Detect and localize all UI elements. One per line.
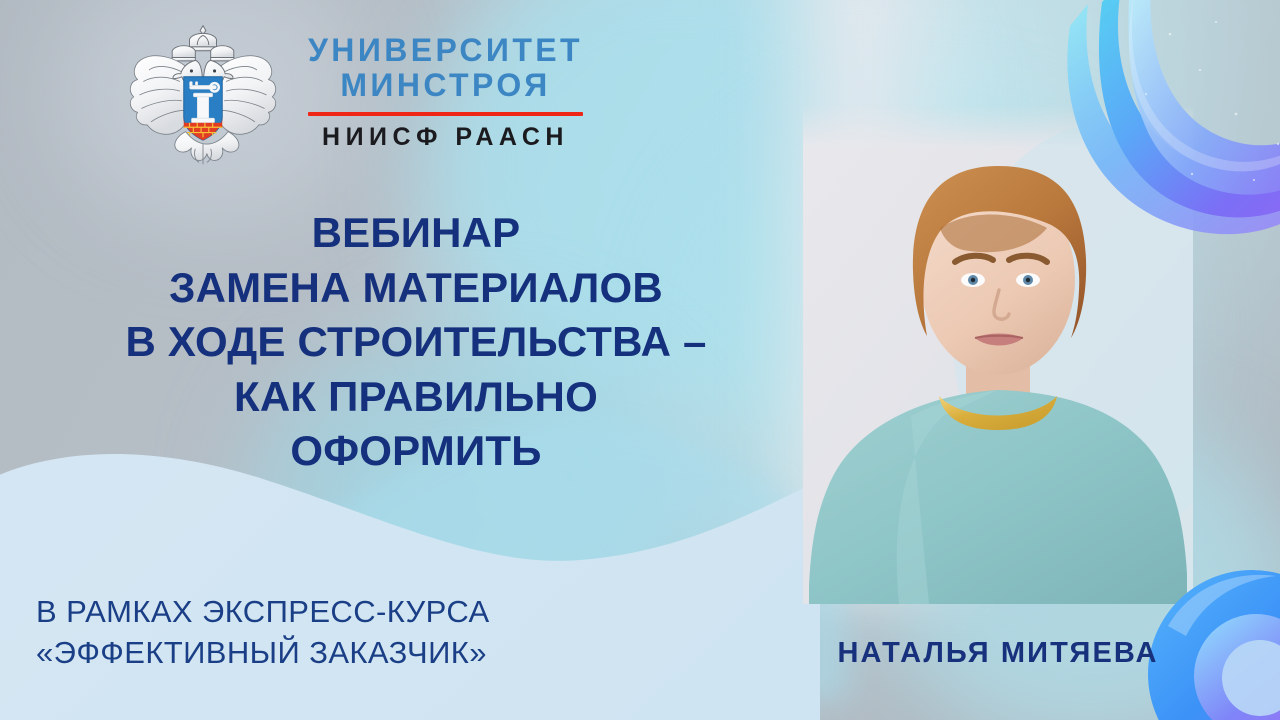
speaker-name: НАТАЛЬЯ МИТЯЕВА — [803, 637, 1193, 670]
headline-line-4: КАК ПРАВИЛЬНО — [22, 370, 810, 425]
page-title: ВЕБИНАР ЗАМЕНА МАТЕРИАЛОВ В ХОДЕ СТРОИТЕ… — [22, 206, 810, 479]
logo-divider-rule — [308, 112, 583, 116]
logo-line-university: УНИВЕРСИТЕТ — [308, 34, 583, 68]
headline-line-3: В ХОДЕ СТРОИТЕЛЬСТВА – — [22, 315, 810, 370]
logo-text-block: УНИВЕРСИТЕТ МИНСТРОЯ НИИСФ РААСН — [308, 18, 583, 150]
swirl-ribbon-decoration — [1050, 0, 1280, 264]
logo-line-minstroy: МИНСТРОЯ — [340, 68, 550, 104]
course-line-1: В РАМКАХ ЭКСПРЕСС-КУРСА — [36, 591, 716, 632]
headline-line-5: ОФОРМИТЬ — [22, 424, 810, 479]
logo-line-niisf-raasn: НИИСФ РААСН — [322, 125, 569, 150]
headline-line-2: ЗАМЕНА МАТЕРИАЛОВ — [22, 261, 810, 316]
course-subtitle: В РАМКАХ ЭКСПРЕСС-КУРСА «ЭФФЕКТИВНЫЙ ЗАК… — [36, 591, 716, 673]
headline-line-1: ВЕБИНАР — [22, 206, 810, 261]
logo-lockup: УНИВЕРСИТЕТ МИНСТРОЯ НИИСФ РААСН — [126, 18, 583, 172]
slide-canvas: УНИВЕРСИТЕТ МИНСТРОЯ НИИСФ РААСН ВЕБИНАР… — [0, 0, 1280, 720]
course-line-2: «ЭФФЕКТИВНЫЙ ЗАКАЗЧИК» — [36, 632, 716, 673]
double-headed-eagle-emblem — [126, 18, 280, 172]
